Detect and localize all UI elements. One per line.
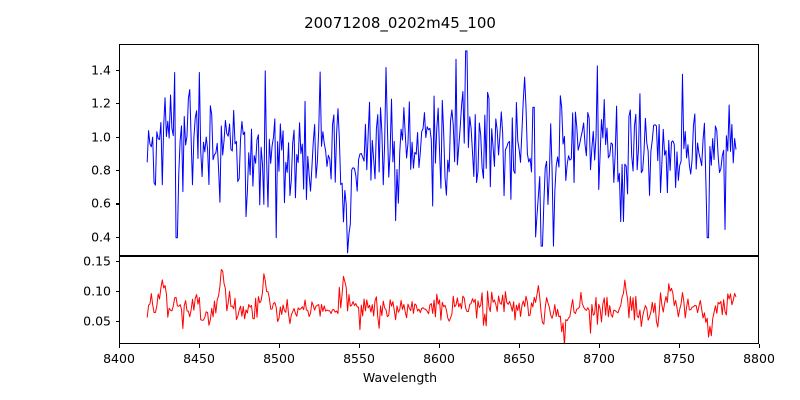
x-tick-mark bbox=[359, 344, 360, 348]
spectrum-y-tick-label: 1.2 bbox=[57, 96, 111, 111]
x-tick-mark bbox=[199, 344, 200, 348]
page-title: 20071208_0202m45_100 bbox=[0, 14, 800, 32]
x-tick-label: 8550 bbox=[343, 351, 375, 366]
x-tick-label: 8800 bbox=[743, 351, 775, 366]
x-tick-label: 8500 bbox=[263, 351, 295, 366]
x-tick-label: 8650 bbox=[503, 351, 535, 366]
spectrum-y-tick-mark bbox=[116, 203, 120, 204]
spectrum-figure: 20071208_0202m45_100 0.40.60.81.01.21.40… bbox=[0, 0, 800, 400]
error-line-series bbox=[120, 257, 759, 344]
x-tick-mark bbox=[759, 344, 760, 348]
x-tick-label: 8750 bbox=[663, 351, 695, 366]
error-y-tick-mark bbox=[116, 291, 120, 292]
x-axis-label: Wavelength bbox=[0, 370, 800, 385]
spectrum-y-tick-label: 1.0 bbox=[57, 129, 111, 144]
error-plot-area bbox=[119, 256, 759, 344]
spectrum-plot-area bbox=[119, 44, 759, 256]
spectrum-line-series bbox=[120, 45, 759, 256]
error-y-tick-label: 0.10 bbox=[57, 283, 111, 298]
x-tick-mark bbox=[599, 344, 600, 348]
error-y-tick-label: 0.05 bbox=[57, 314, 111, 329]
spectrum-y-tick-label: 0.6 bbox=[57, 196, 111, 211]
x-tick-mark bbox=[119, 344, 120, 348]
spectrum-y-tick-mark bbox=[116, 137, 120, 138]
x-tick-mark bbox=[279, 344, 280, 348]
x-tick-label: 8400 bbox=[103, 351, 135, 366]
error-y-tick-label: 0.15 bbox=[57, 253, 111, 268]
spectrum-y-tick-mark bbox=[116, 170, 120, 171]
error-y-tick-mark bbox=[116, 321, 120, 322]
x-tick-label: 8450 bbox=[183, 351, 215, 366]
spectrum-y-tick-mark bbox=[116, 70, 120, 71]
x-tick-mark bbox=[679, 344, 680, 348]
error-y-tick-mark bbox=[116, 261, 120, 262]
spectrum-y-tick-mark bbox=[116, 237, 120, 238]
spectrum-y-tick-label: 0.4 bbox=[57, 229, 111, 244]
spectrum-y-tick-label: 0.8 bbox=[57, 163, 111, 178]
x-tick-label: 8700 bbox=[583, 351, 615, 366]
x-tick-mark bbox=[439, 344, 440, 348]
spectrum-y-tick-label: 1.4 bbox=[57, 62, 111, 77]
spectrum-y-tick-mark bbox=[116, 103, 120, 104]
x-tick-label: 8600 bbox=[423, 351, 455, 366]
x-tick-mark bbox=[519, 344, 520, 348]
